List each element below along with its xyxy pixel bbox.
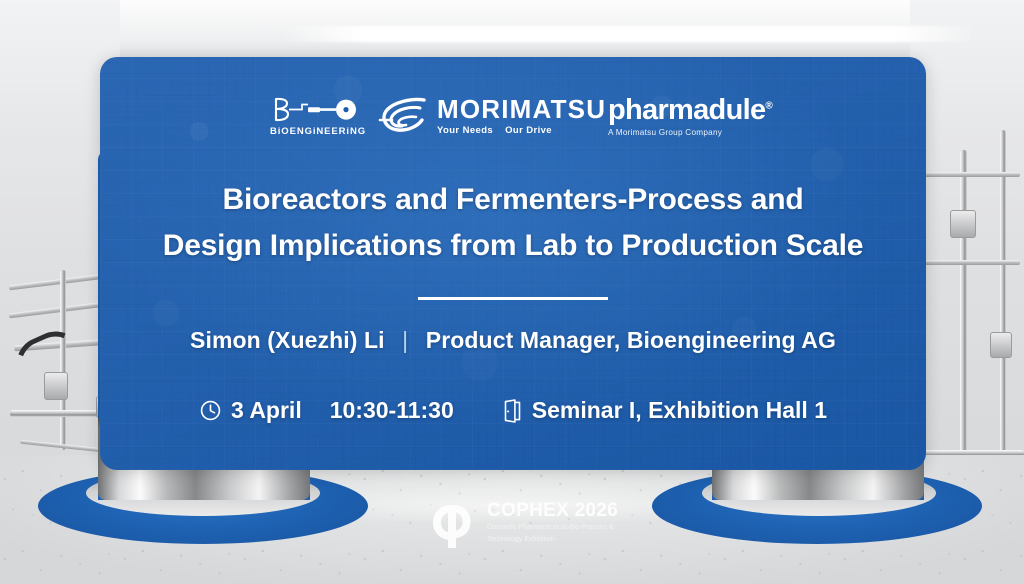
session-date: 3 April [231,397,302,424]
session-title: Bioreactors and Fermenters-Process and D… [100,177,926,268]
bioengineering-wordmark: BiOENGiNEERiNG [270,126,366,137]
morimatsu-swirl-icon [378,96,430,136]
morimatsu-tagline-right: Our Drive [505,125,552,136]
session-title-line1: Bioreactors and Fermenters-Process and [223,183,804,216]
cophex-subtitle-line1: Cosmetic·Pharmaceutical·Bio-Process & [487,523,618,534]
clock-icon [199,399,222,422]
door-icon [502,399,523,423]
session-title-line2: Design Implications from Lab to Producti… [100,223,926,269]
morimatsu-wordmark: MORIMATSU [437,96,606,122]
sponsor-logo-row: BiOENGiNEERiNG MORIMATSU [100,88,926,144]
speaker-separator: | [402,327,408,353]
session-datetime: 3 April 10:30-11:30 [199,397,454,424]
cophex-name: COPHEX 2026 [487,501,618,520]
session-venue: Seminar I, Exhibition Hall 1 [502,397,827,424]
session-venue-label: Seminar I, Exhibition Hall 1 [532,397,827,424]
speaker-line: Simon (Xuezhi) Li | Product Manager, Bio… [100,327,926,354]
cophex-subtitle-line2: Technology Exhibition [487,535,618,546]
logo-bioengineering: BiOENGiNEERiNG [258,90,378,142]
speaker-role: Product Manager, Bioengineering AG [426,327,836,353]
pharmadule-trademark: ® [765,100,772,111]
bioengineering-logo-icon [272,96,364,124]
speaker-name: Simon (Xuezhi) Li [190,327,385,353]
ceiling-light-strip [280,26,980,42]
pharmadule-wordmark: pharmadule [608,94,765,126]
session-time: 10:30-11:30 [330,397,454,424]
session-meta: 3 April 10:30-11:30 Seminar I, Exhibitio… [100,397,926,424]
cophex-cp-monogram-icon [424,497,476,549]
morimatsu-tagline-left: Your Needs [437,125,493,136]
cophex-logo: COPHEX 2026 Cosmetic·Pharmaceutical·Bio-… [424,497,618,549]
event-announcement-banner: BiOENGiNEERiNG MORIMATSU [0,0,1024,584]
logo-pharmadule: pharmadule® A Morimatsu Group Company [608,90,768,142]
logo-morimatsu: MORIMATSU Your Needs Our Drive [378,90,608,142]
pharmadule-subtitle: A Morimatsu Group Company [608,128,722,137]
background-ceiling [120,0,910,60]
title-divider [418,297,608,300]
blue-content-panel: BiOENGiNEERiNG MORIMATSU [100,57,926,470]
